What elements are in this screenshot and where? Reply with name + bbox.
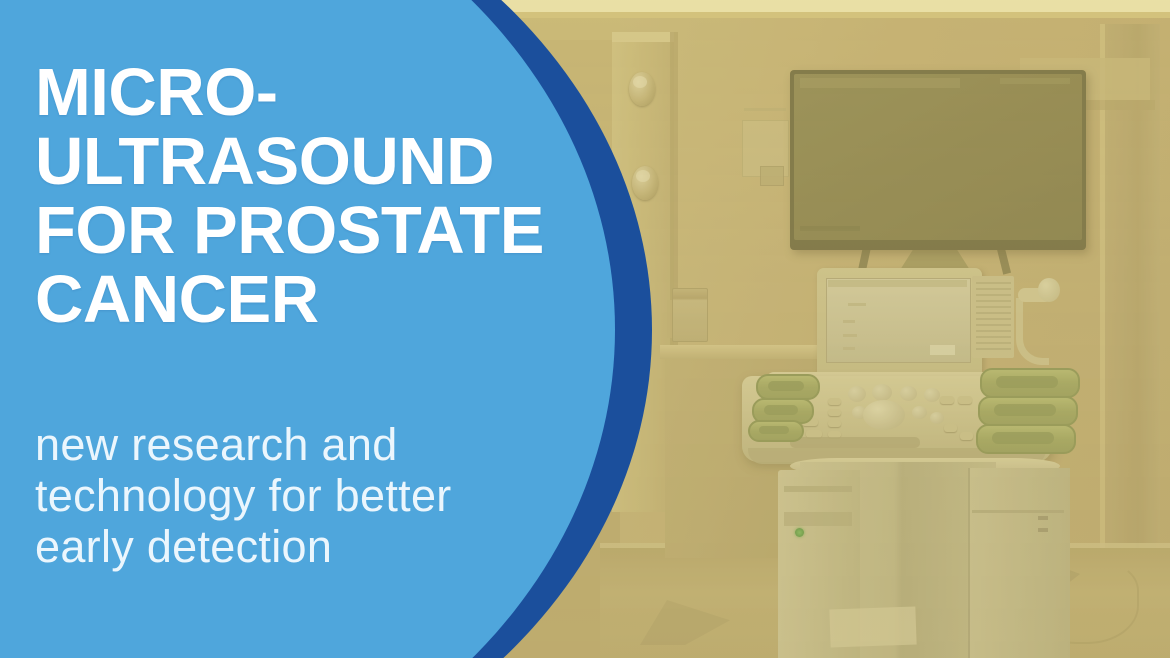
ultrasound-lcd-header-bar (828, 280, 967, 287)
probe-holder-cavity (992, 432, 1054, 444)
gas-outlet-highlight (633, 76, 647, 88)
probe-holder-slot (980, 368, 1080, 398)
cart-panel-label (1038, 516, 1048, 520)
promo-banner: MICRO- ULTRASOUND FOR PROSTATE CANCER ne… (0, 0, 1170, 658)
wall-pillar-top (612, 32, 674, 42)
ultrasound-lcd-text-row (843, 347, 855, 350)
text-block: MICRO- ULTRASOUND FOR PROSTATE CANCER ne… (35, 0, 595, 658)
probe-holder-cavity (759, 426, 789, 434)
gas-outlet-highlight (636, 170, 650, 182)
probe-holder-cavity (996, 376, 1058, 388)
wall-plate (760, 166, 784, 186)
wall-display-glare-secondary (1000, 78, 1070, 84)
ultrasound-lcd-highlight (930, 345, 955, 355)
console-handle (790, 437, 920, 448)
console-dial (848, 386, 866, 402)
ultrasound-lcd-text-row (843, 334, 857, 337)
counter-top (660, 345, 840, 359)
console-key (944, 424, 957, 432)
console-key (960, 432, 973, 440)
probe-holder-group-left (752, 372, 830, 434)
console-dial (872, 384, 892, 401)
probe-holder-slot (756, 374, 820, 400)
console-trackball (863, 400, 905, 430)
probe-holder-slot (978, 396, 1078, 426)
probe-holder-slot (748, 420, 804, 442)
ultrasound-lcd-text-row (848, 303, 866, 306)
probe-head-icon (1038, 278, 1060, 302)
cart-panel-seam (972, 510, 1064, 513)
probe-holder-group-right (978, 368, 1080, 450)
wall-dispenser (672, 288, 708, 342)
wall-display-glare (800, 78, 960, 88)
probe-holder-cavity (994, 404, 1056, 416)
probe-holder-cavity (764, 405, 798, 415)
headline: MICRO- ULTRASOUND FOR PROSTATE CANCER (35, 58, 595, 334)
cart-right-panel (968, 468, 1070, 658)
cart-slot (784, 486, 852, 492)
console-dial (930, 412, 944, 424)
console-key (958, 396, 972, 404)
console-dial (900, 386, 917, 401)
wall-display-screen (794, 74, 1082, 240)
power-indicator-led-icon (795, 528, 804, 537)
wall-sign-rail (744, 108, 786, 111)
console-key (940, 396, 954, 404)
console-dial (924, 388, 940, 402)
probe-holder-cavity (768, 381, 804, 391)
subheadline: new research and technology for better e… (35, 419, 615, 572)
probe-cable (1016, 298, 1049, 365)
cart-slot (784, 512, 852, 526)
console-dial (912, 406, 927, 419)
cart-panel-label (1038, 528, 1048, 532)
probe-holder-slot (976, 424, 1076, 454)
ultrasound-lcd-text-row (843, 320, 855, 323)
wall-display-bottom-label (800, 226, 860, 231)
gas-outlet-upper-icon (629, 72, 655, 106)
ultrasound-vent-grill (976, 282, 1011, 352)
cart-paper (829, 607, 916, 648)
gas-outlet-lower-icon (632, 166, 658, 200)
